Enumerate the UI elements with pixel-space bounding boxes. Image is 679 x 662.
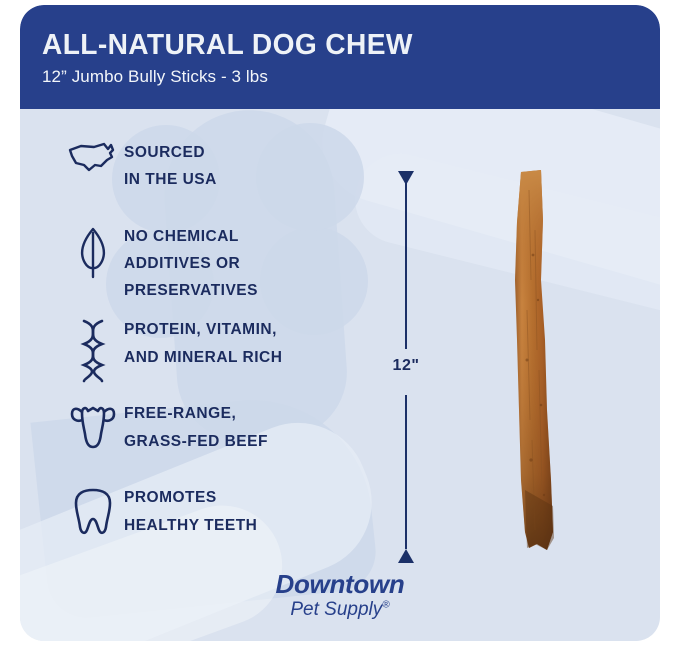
registered-trademark-icon: ® (382, 600, 389, 611)
feature-line: IN THE USA (124, 166, 217, 193)
list-item-label: SOURCED IN THE USA (124, 137, 217, 193)
feature-line: PRESERVATIVES (124, 277, 258, 304)
cow-head-icon (62, 398, 124, 452)
list-item-label: PROTEIN, VITAMIN, AND MINERAL RICH (124, 314, 282, 370)
dna-helix-icon (62, 314, 124, 384)
list-item-label: FREE-RANGE, GRASS-FED BEEF (124, 398, 268, 454)
tooth-icon (62, 482, 124, 538)
feature-line: ADDITIVES OR (124, 250, 258, 277)
list-item: NO CHEMICAL ADDITIVES OR PRESERVATIVES (62, 221, 362, 304)
brand-tagline-text: Pet Supply (290, 599, 382, 620)
list-item: PROMOTES HEALTHY TEETH (62, 482, 362, 556)
list-item-label: NO CHEMICAL ADDITIVES OR PRESERVATIVES (124, 221, 258, 304)
list-item: SOURCED IN THE USA (62, 137, 362, 211)
page-title: ALL-NATURAL DOG CHEW (42, 31, 641, 60)
feature-list: SOURCED IN THE USA NO CHEMICAL ADDITIVES… (62, 137, 362, 566)
feature-line: GRASS-FED BEEF (124, 428, 268, 455)
leaf-icon (62, 221, 124, 281)
list-item-label: PROMOTES HEALTHY TEETH (124, 482, 257, 538)
header-banner: ALL-NATURAL DOG CHEW 12” Jumbo Bully Sti… (20, 5, 660, 109)
brand-name: Downtown (20, 571, 660, 598)
feature-line: PROTEIN, VITAMIN, (124, 316, 282, 343)
page-subtitle: 12” Jumbo Bully Sticks - 3 lbs (42, 67, 660, 87)
feature-line: AND MINERAL RICH (124, 344, 282, 371)
feature-line: PROMOTES (124, 484, 257, 511)
list-item: PROTEIN, VITAMIN, AND MINERAL RICH (62, 314, 362, 388)
dimension-label: 12" (378, 357, 434, 375)
product-infographic-card: ALL-NATURAL DOG CHEW 12” Jumbo Bully Sti… (20, 5, 660, 641)
brand-tagline: Pet Supply® (20, 599, 660, 621)
bully-stick-product-image (475, 160, 605, 560)
feature-line: SOURCED (124, 139, 217, 166)
brand-logo: Downtown Pet Supply® (20, 571, 660, 621)
feature-line: FREE-RANGE, (124, 400, 268, 427)
usa-map-icon (62, 137, 124, 175)
feature-line: NO CHEMICAL (124, 223, 258, 250)
feature-line: HEALTHY TEETH (124, 512, 257, 539)
list-item: FREE-RANGE, GRASS-FED BEEF (62, 398, 362, 472)
